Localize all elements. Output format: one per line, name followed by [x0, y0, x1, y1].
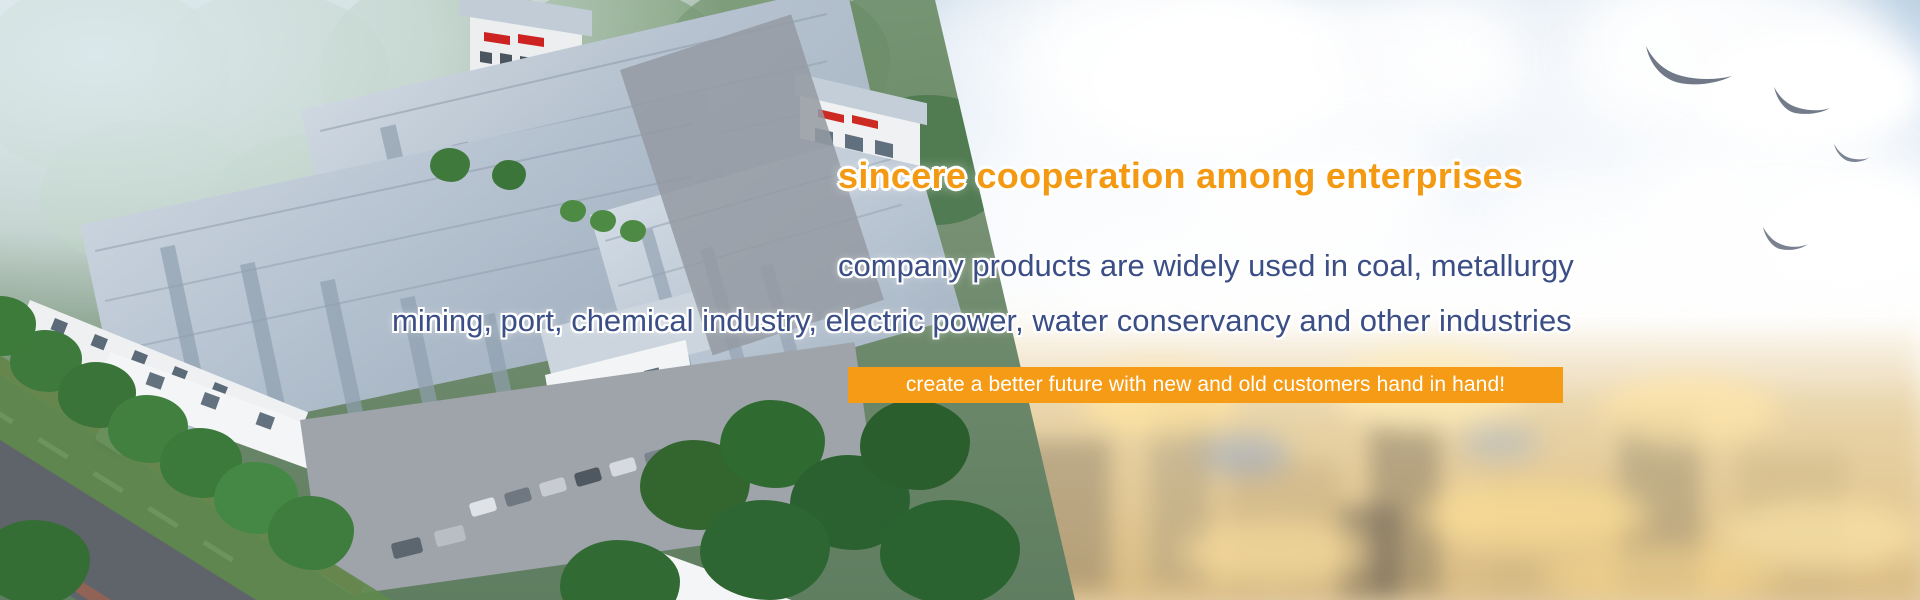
compound-tree — [880, 500, 1020, 600]
compound-tree — [860, 400, 970, 490]
hero-banner: sincere cooperation among enterprises co… — [0, 0, 1920, 600]
bird-icon — [1832, 140, 1872, 168]
city-light-glow — [1460, 425, 1540, 460]
bird-icon — [1770, 80, 1832, 122]
bird-icon — [1760, 222, 1810, 256]
window — [480, 51, 492, 64]
city-light-glow — [1420, 480, 1650, 550]
cta-label: create a better future with new and old … — [906, 373, 1505, 397]
bird-icon — [1640, 36, 1735, 96]
city-light-glow — [1540, 545, 1780, 600]
compound-tree — [430, 148, 470, 182]
city-light-glow — [1600, 375, 1780, 445]
city-light-glow — [1200, 435, 1290, 475]
compound-tree — [492, 160, 526, 190]
shrub — [620, 220, 646, 242]
shrub — [560, 200, 586, 222]
shrub — [590, 210, 616, 232]
street-tree — [268, 496, 354, 570]
city-light-glow — [1180, 520, 1370, 585]
compound-tree — [700, 500, 830, 600]
cta-banner[interactable]: create a better future with new and old … — [848, 367, 1563, 403]
